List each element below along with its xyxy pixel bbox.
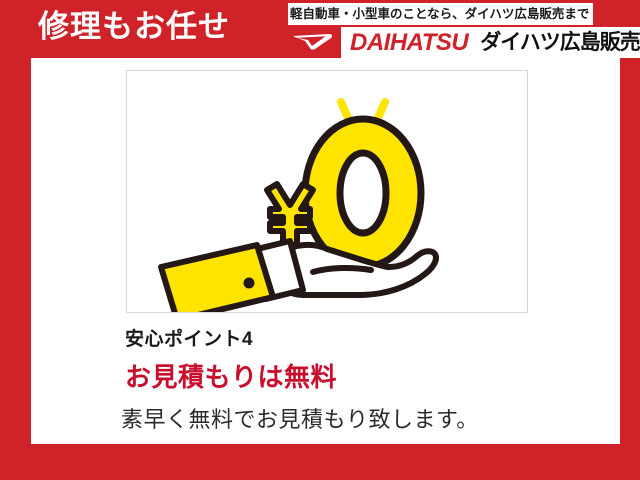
page-title: 修理もお任せ <box>38 8 230 46</box>
daihatsu-wordmark: DAIHATSU <box>350 31 468 55</box>
description-text: 素早く無料でお見積もり致します。 <box>121 405 479 435</box>
brand-logo-bar: DAIHATSU ダイハツ広島販売 <box>285 27 640 58</box>
hand-holding-yen-zero-illustration <box>127 71 527 312</box>
brand-tagline: 軽自動車・小型車のことなら、ダイハツ広島販売まで <box>288 3 593 25</box>
point-label: 安心ポイント4 <box>125 328 253 352</box>
brand-block: 軽自動車・小型車のことなら、ダイハツ広島販売まで DAIHATSU ダイハツ広島… <box>285 3 640 58</box>
header-bar: 修理もお任せ 軽自動車・小型車のことなら、ダイハツ広島販売まで DAIHATSU… <box>0 0 640 58</box>
slide-root: 修理もお任せ 軽自動車・小型車のことなら、ダイハツ広島販売まで DAIHATSU… <box>0 0 640 480</box>
illustration-frame <box>126 70 528 313</box>
yen-symbol-glyph <box>267 184 313 245</box>
headline: お見積もりは無料 <box>125 361 337 393</box>
content-panel: 安心ポイント4 お見積もりは無料 素早く無料でお見積もり致します。 <box>31 58 620 444</box>
dealer-name: ダイハツ広島販売 <box>480 32 640 53</box>
daihatsu-d-emblem-icon <box>285 27 341 58</box>
sleeve-button-dot <box>244 278 255 289</box>
